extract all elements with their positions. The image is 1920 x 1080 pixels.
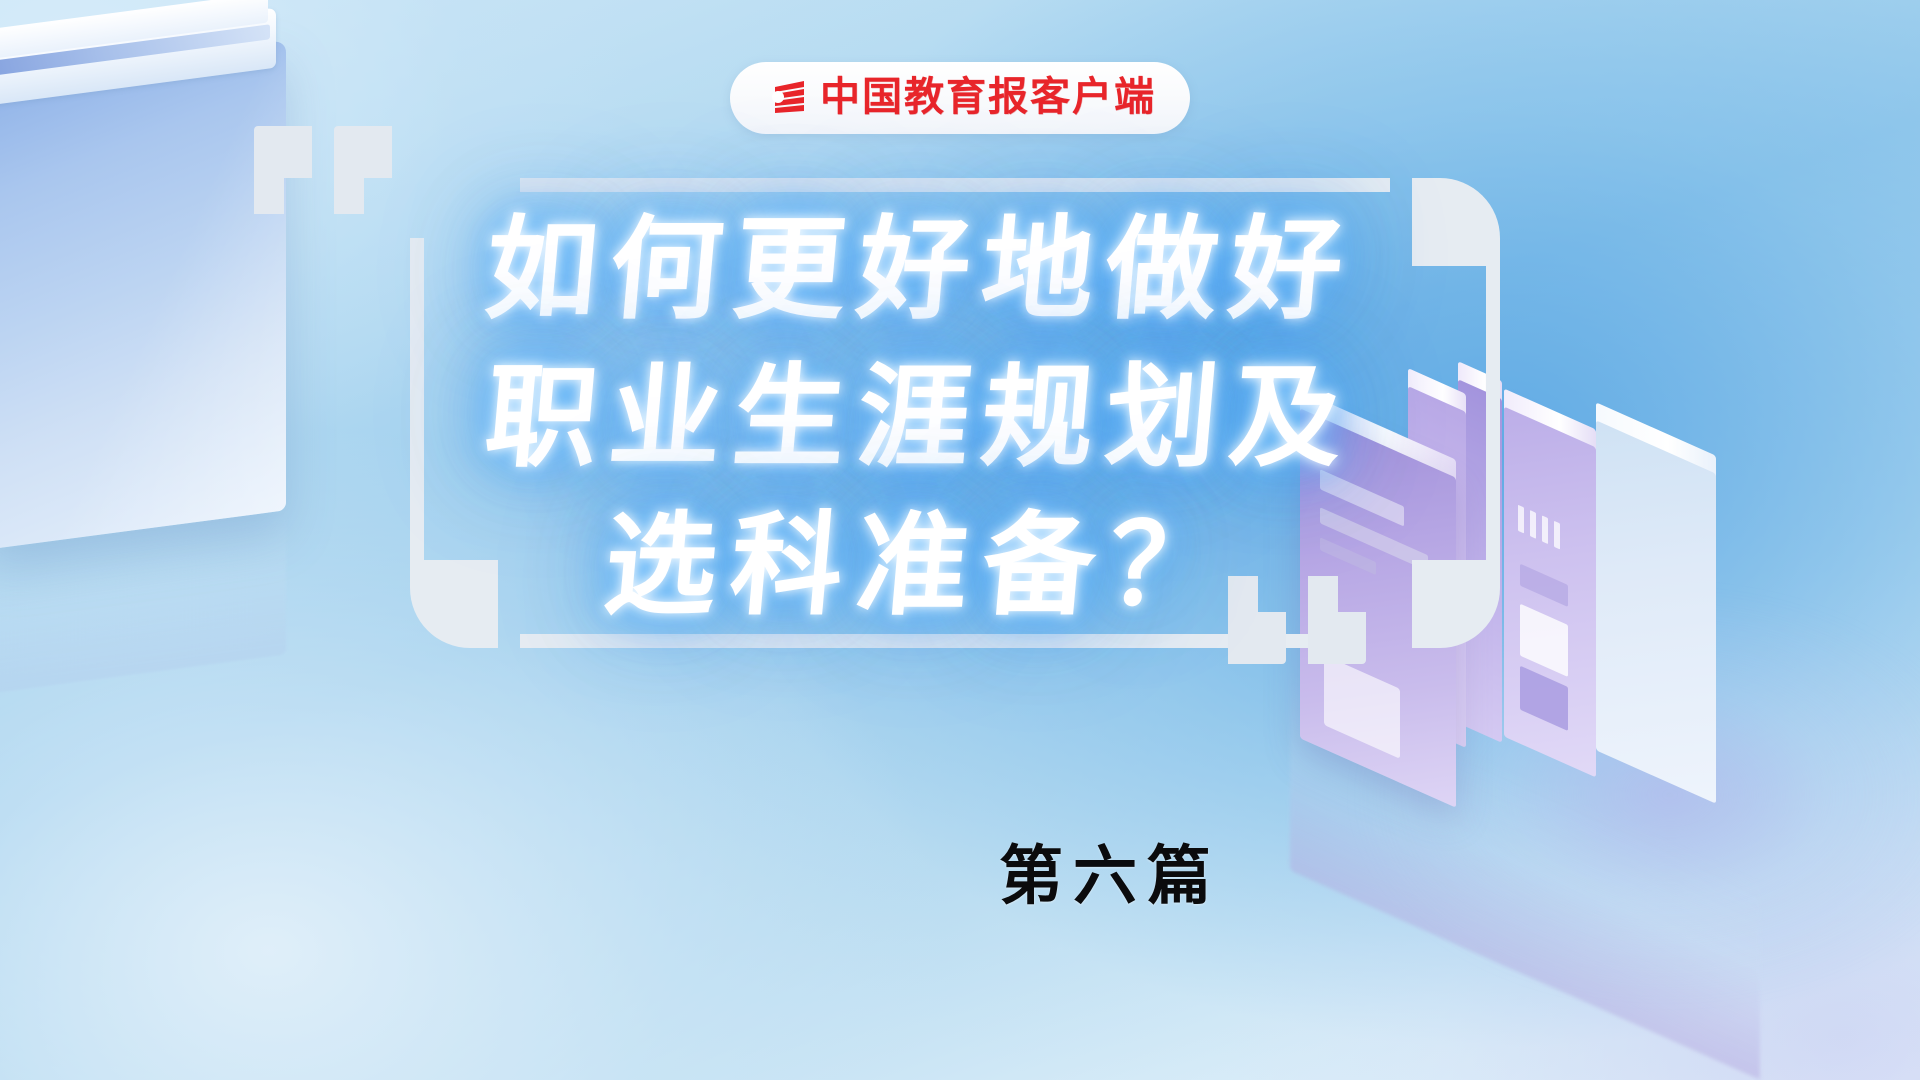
title-line-3: 选科准备？ xyxy=(374,492,1467,640)
main-title: 如何更好地做好 职业生涯规划及 选科准备？ xyxy=(380,196,1460,639)
book-4 xyxy=(1504,407,1596,778)
title-line-1: 如何更好地做好 xyxy=(374,196,1467,344)
frame-top-edge xyxy=(520,178,1390,192)
title-line-2: 职业生涯规划及 xyxy=(374,344,1467,492)
brand-name-text: 中国教育报客户端 xyxy=(820,77,1156,117)
book-5 xyxy=(1596,420,1716,803)
china-education-daily-logo-icon xyxy=(756,71,808,123)
subtitle-text: 第六篇 xyxy=(999,845,1221,909)
blue-hardcover-book-icon xyxy=(0,4,314,564)
brand-badge[interactable]: 中国教育报客户端 xyxy=(730,62,1190,134)
left-book-cover xyxy=(0,40,286,549)
subtitle-container: 第六篇 xyxy=(300,845,1920,909)
frame-right-edge xyxy=(1486,238,1500,588)
quotation-mark-open-icon xyxy=(254,126,392,214)
poster-canvas: 中国教育报客户端 如何更好地做好 职业生涯规划及 选科准备？ 第六篇 xyxy=(0,0,1920,1080)
